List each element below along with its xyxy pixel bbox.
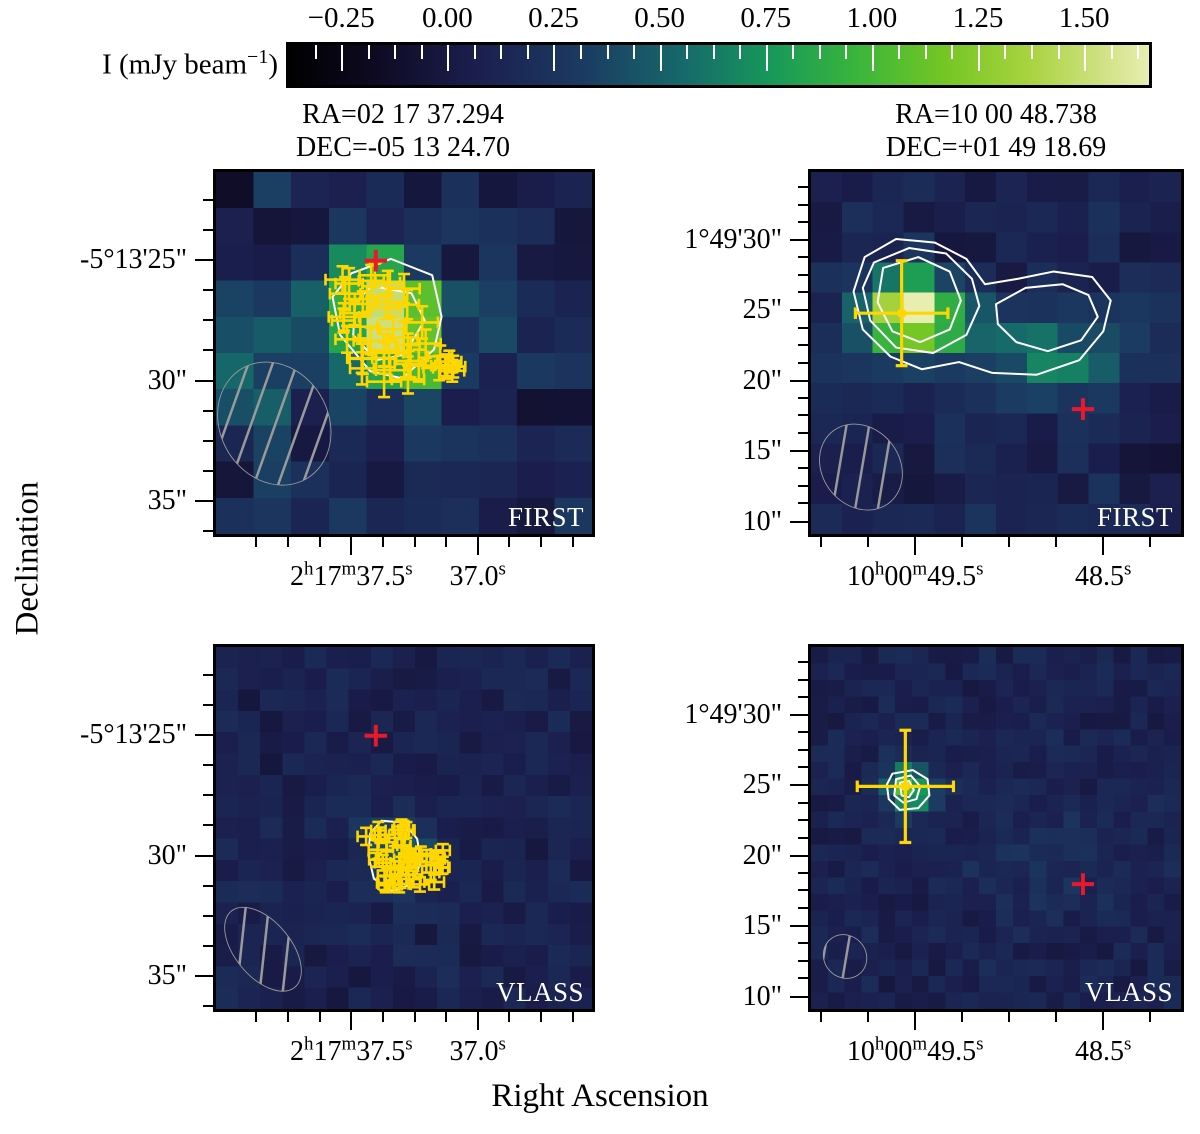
x-minor-tick <box>820 537 822 547</box>
component-markers <box>855 261 948 366</box>
x-tick-label: 48.5s <box>1075 561 1131 593</box>
colorbar-minor-tick <box>951 45 953 59</box>
y-minor-tick <box>798 327 808 329</box>
colorbar-minor-tick <box>713 45 715 59</box>
y-axis-title: Declination <box>10 399 47 719</box>
y-tick-label: 1°49'30" <box>522 699 782 731</box>
colorbar-minor-tick <box>394 45 396 59</box>
y-minor-tick <box>798 186 808 188</box>
x-tick-label: 37.0s <box>450 561 506 593</box>
y-minor-tick <box>203 199 213 201</box>
y-major-tick <box>790 714 808 716</box>
colorbar-minor-tick <box>421 45 423 59</box>
y-minor-tick <box>798 872 808 874</box>
optical-position-cross <box>1072 873 1094 895</box>
survey-label: FIRST <box>1097 502 1173 532</box>
y-major-tick <box>195 855 213 857</box>
colorbar-minor-tick <box>607 45 609 59</box>
colorbar-minor-tick <box>845 45 847 59</box>
radio-image-figure: I (mJy beam−1) −0.250.000.250.500.751.00… <box>0 0 1200 1134</box>
image-panel-first-source2[interactable]: FIRST <box>808 169 1184 537</box>
y-major-tick <box>790 239 808 241</box>
y-tick-label: 15" <box>522 910 782 942</box>
radio-contour <box>996 284 1098 351</box>
y-minor-tick <box>798 414 808 416</box>
source-header-left: RA=02 17 37.294 DEC=-05 13 24.70 <box>193 98 613 164</box>
x-minor-tick <box>382 1012 384 1022</box>
x-tick-label: 10h00m49.5s <box>847 1036 984 1068</box>
colorbar-tick-label: 1.25 <box>953 2 1004 34</box>
x-minor-tick <box>382 537 384 547</box>
y-minor-tick <box>203 229 213 231</box>
y-minor-tick <box>203 885 213 887</box>
x-minor-tick <box>445 1012 447 1022</box>
y-minor-tick <box>798 291 808 293</box>
x-minor-tick <box>508 537 510 547</box>
overlay-svg <box>811 172 1181 534</box>
colorbar-tick-label: 0.50 <box>634 2 685 34</box>
colorbar-minor-tick <box>792 45 794 59</box>
y-minor-tick <box>203 824 213 826</box>
y-major-tick <box>195 259 213 261</box>
y-minor-tick <box>203 470 213 472</box>
y-minor-tick <box>203 349 213 351</box>
y-minor-tick <box>798 977 808 979</box>
x-minor-tick <box>319 537 321 547</box>
y-minor-tick <box>798 661 808 663</box>
y-major-tick <box>790 784 808 786</box>
colorbar-title-exponent: −1 <box>247 46 268 68</box>
colorbar <box>286 42 1152 88</box>
x-minor-tick <box>1149 537 1151 547</box>
colorbar-tick-label: 0.25 <box>528 2 579 34</box>
y-tick-label: 10" <box>522 506 782 538</box>
colorbar-title-close: ) <box>268 49 278 81</box>
optical-position-cross <box>1072 398 1094 420</box>
y-major-tick <box>790 309 808 311</box>
x-minor-tick <box>414 537 416 547</box>
image-panel-vlass-source2[interactable]: VLASS <box>808 644 1184 1012</box>
y-minor-tick <box>798 907 808 909</box>
x-major-tick <box>350 537 352 555</box>
radio-contour <box>878 257 961 342</box>
x-minor-tick <box>255 537 257 547</box>
x-axis-title: Right Ascension <box>400 1078 800 1115</box>
y-major-tick <box>790 521 808 523</box>
colorbar-tick-label: 1.50 <box>1059 2 1110 34</box>
colorbar-major-tick <box>978 45 980 71</box>
x-minor-tick <box>508 1012 510 1022</box>
source-dec-left: DEC=-05 13 24.70 <box>193 131 613 164</box>
colorbar-minor-tick <box>686 45 688 59</box>
y-major-tick <box>195 500 213 502</box>
x-minor-tick <box>540 1012 542 1022</box>
y-minor-tick <box>203 410 213 412</box>
x-minor-tick <box>961 1012 963 1022</box>
y-minor-tick <box>798 467 808 469</box>
y-minor-tick <box>203 915 213 917</box>
colorbar-title: I (mJy beam−1) <box>10 40 278 82</box>
x-major-tick <box>914 1012 916 1030</box>
y-tick-label: 25" <box>522 294 782 326</box>
y-minor-tick <box>203 764 213 766</box>
x-minor-tick <box>414 1012 416 1022</box>
x-tick-label: 2h17m37.5s <box>290 1036 413 1068</box>
colorbar-tick-label: 0.75 <box>740 2 791 34</box>
y-major-tick <box>790 855 808 857</box>
y-major-tick <box>790 380 808 382</box>
y-tick-label: 30" <box>0 840 187 872</box>
colorbar-minor-tick <box>580 45 582 59</box>
colorbar-minor-tick <box>1031 45 1033 59</box>
y-minor-tick <box>798 766 808 768</box>
radio-contour <box>854 239 1111 375</box>
x-minor-tick <box>287 537 289 547</box>
component-markers <box>857 730 953 842</box>
colorbar-tick-label: −0.25 <box>308 2 375 34</box>
x-major-tick <box>477 1012 479 1030</box>
x-minor-tick <box>1149 1012 1151 1022</box>
colorbar-minor-tick <box>925 45 927 59</box>
y-minor-tick <box>798 749 808 751</box>
y-major-tick <box>790 996 808 998</box>
y-tick-label: 35" <box>0 960 187 992</box>
survey-label: VLASS <box>1085 977 1173 1007</box>
y-minor-tick <box>798 837 808 839</box>
source-dec-right: DEC=+01 49 18.69 <box>790 131 1200 164</box>
colorbar-major-tick <box>872 45 874 71</box>
y-minor-tick <box>203 530 213 532</box>
colorbar-minor-tick <box>1004 45 1006 59</box>
y-minor-tick <box>798 397 808 399</box>
y-major-tick <box>790 450 808 452</box>
colorbar-minor-tick <box>819 45 821 59</box>
colorbar-minor-tick <box>368 45 370 59</box>
radio-contour <box>863 248 980 353</box>
x-minor-tick <box>820 1012 822 1022</box>
colorbar-minor-tick <box>527 45 529 59</box>
x-minor-tick <box>1008 537 1010 547</box>
x-major-tick <box>477 537 479 555</box>
x-major-tick <box>350 1012 352 1030</box>
colorbar-minor-tick <box>1111 45 1113 59</box>
colorbar-minor-tick <box>500 45 502 59</box>
y-tick-label: 10" <box>522 981 782 1013</box>
x-minor-tick <box>867 1012 869 1022</box>
colorbar-major-tick <box>660 45 662 71</box>
beam-ellipse <box>815 926 876 986</box>
y-minor-tick <box>798 696 808 698</box>
x-minor-tick <box>319 1012 321 1022</box>
overlay-svg <box>811 647 1181 1009</box>
beam-ellipse <box>811 408 919 526</box>
y-minor-tick <box>798 819 808 821</box>
y-tick-label: 25" <box>522 769 782 801</box>
y-minor-tick <box>798 502 808 504</box>
colorbar-minor-tick <box>1137 45 1139 59</box>
x-minor-tick <box>1055 1012 1057 1022</box>
y-minor-tick <box>798 731 808 733</box>
y-minor-tick <box>798 204 808 206</box>
colorbar-major-tick <box>447 45 449 71</box>
beam-ellipse <box>216 344 351 503</box>
component-markers <box>358 820 450 893</box>
y-minor-tick <box>203 289 213 291</box>
y-tick-label: -5°13'25" <box>0 244 187 276</box>
colorbar-major-tick <box>1084 45 1086 71</box>
y-minor-tick <box>798 802 808 804</box>
source-header-right: RA=10 00 48.738 DEC=+01 49 18.69 <box>790 98 1200 164</box>
y-minor-tick <box>798 221 808 223</box>
x-minor-tick <box>287 1012 289 1022</box>
x-minor-tick <box>540 537 542 547</box>
colorbar-major-tick <box>766 45 768 71</box>
x-minor-tick <box>572 1012 574 1022</box>
colorbar-minor-tick <box>898 45 900 59</box>
source-ra-left: RA=02 17 37.294 <box>193 98 613 131</box>
colorbar-minor-tick <box>1058 45 1060 59</box>
y-minor-tick <box>203 945 213 947</box>
y-minor-tick <box>798 485 808 487</box>
colorbar-major-tick <box>341 45 343 71</box>
x-minor-tick <box>1055 537 1057 547</box>
y-major-tick <box>790 925 808 927</box>
colorbar-tick-labels: −0.250.000.250.500.751.001.251.50 <box>286 2 1152 38</box>
x-major-tick <box>1102 1012 1104 1030</box>
y-minor-tick <box>798 679 808 681</box>
x-major-tick <box>1102 537 1104 555</box>
y-minor-tick <box>798 274 808 276</box>
x-major-tick <box>914 537 916 555</box>
component-marker <box>855 261 948 366</box>
y-minor-tick <box>203 674 213 676</box>
x-minor-tick <box>867 537 869 547</box>
x-minor-tick <box>961 537 963 547</box>
component-marker <box>857 730 953 842</box>
y-major-tick <box>195 380 213 382</box>
y-minor-tick <box>798 942 808 944</box>
y-minor-tick <box>203 1005 213 1007</box>
y-tick-label: 30" <box>0 365 187 397</box>
y-minor-tick <box>798 432 808 434</box>
y-minor-tick <box>203 319 213 321</box>
y-minor-tick <box>798 889 808 891</box>
y-tick-label: -5°13'25" <box>0 719 187 751</box>
y-minor-tick <box>798 256 808 258</box>
y-tick-label: 1°49'30" <box>522 224 782 256</box>
x-tick-label: 48.5s <box>1075 1036 1131 1068</box>
y-minor-tick <box>203 794 213 796</box>
colorbar-minor-tick <box>739 45 741 59</box>
x-minor-tick <box>445 537 447 547</box>
y-tick-label: 20" <box>522 840 782 872</box>
x-minor-tick <box>1008 1012 1010 1022</box>
y-minor-tick <box>798 362 808 364</box>
x-tick-label: 37.0s <box>450 1036 506 1068</box>
component-marker <box>424 875 444 890</box>
x-minor-tick <box>572 537 574 547</box>
colorbar-major-tick <box>553 45 555 71</box>
y-minor-tick <box>798 960 808 962</box>
colorbar-minor-tick <box>474 45 476 59</box>
colorbar-minor-tick <box>315 45 317 59</box>
y-tick-label: 20" <box>522 365 782 397</box>
colorbar-tick-label: 0.00 <box>422 2 473 34</box>
y-tick-label: 15" <box>522 435 782 467</box>
y-minor-tick <box>203 704 213 706</box>
optical-position-cross <box>365 725 388 747</box>
x-tick-label: 10h00m49.5s <box>847 561 984 593</box>
x-tick-label: 2h17m37.5s <box>290 561 413 593</box>
colorbar-minor-tick <box>633 45 635 59</box>
colorbar-title-text: I (mJy beam <box>102 49 247 81</box>
y-major-tick <box>195 975 213 977</box>
y-major-tick <box>195 734 213 736</box>
source-ra-right: RA=10 00 48.738 <box>790 98 1200 131</box>
y-minor-tick <box>203 440 213 442</box>
beam-ellipse <box>216 894 316 1004</box>
colorbar-tick-label: 1.00 <box>846 2 897 34</box>
y-minor-tick <box>798 344 808 346</box>
x-minor-tick <box>255 1012 257 1022</box>
colorbar-gradient <box>289 45 1149 85</box>
